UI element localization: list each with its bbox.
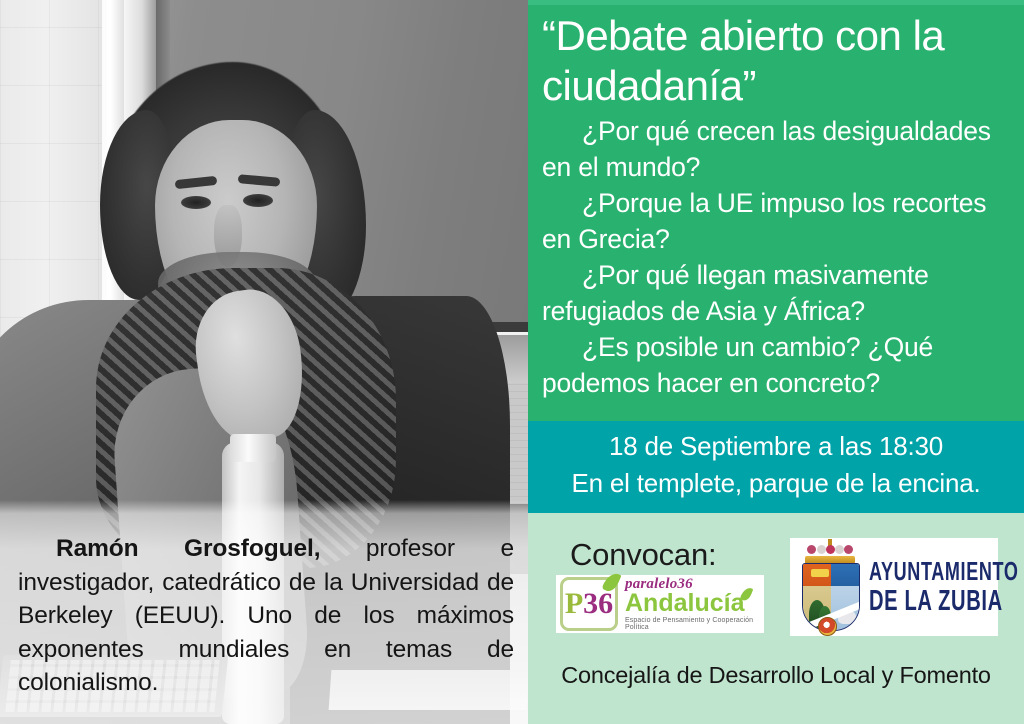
- question-2: ¿Porque la UE impuso los recortes en Gre…: [542, 185, 1012, 257]
- paralelo36-logo[interactable]: P36 paralelo36 Andalucía Espacio de Pens…: [556, 575, 764, 633]
- leaf-icon: [601, 570, 621, 594]
- p36-number-36: 36: [583, 589, 613, 619]
- convocan-label: Convocan:: [570, 537, 716, 573]
- ayuntamiento-logo[interactable]: AYUNTAMIENTO DE LA ZUBIA: [790, 538, 998, 636]
- ayuntamiento-wordmark: AYUNTAMIENTO DE LA ZUBIA: [869, 563, 1010, 611]
- p36-letter-p: P: [565, 589, 583, 619]
- shield-quarter-1: [803, 564, 831, 586]
- paralelo36-main-word: Andalucía: [625, 591, 764, 616]
- event-details-panel: 18 de Septiembre a las 18:30 En el templ…: [528, 421, 1024, 513]
- question-3: ¿Por qué llegan masivamente refugiados d…: [542, 257, 1012, 329]
- paralelo36-wordmark: paralelo36 Andalucía Espacio de Pensamie…: [625, 577, 764, 631]
- crown-jewel: [807, 545, 816, 554]
- organizers-panel: Convocan: P36 paralelo36 Andalucía Espac…: [528, 513, 1024, 724]
- event-venue: En el templete, parque de la encina.: [528, 465, 1024, 502]
- ayuntamiento-line-2: DE LA ZUBIA: [869, 587, 1018, 616]
- speaker-name: Ramón Grosfoguel,: [56, 535, 320, 562]
- person-eye-right: [243, 194, 273, 207]
- speaker-bio: Ramón Grosfoguel, profesor e investigado…: [0, 532, 528, 700]
- coat-of-arms-icon: [796, 542, 864, 632]
- question-1: ¿Por qué crecen las desigualdades en el …: [542, 113, 1012, 185]
- crown-icon: [805, 544, 855, 564]
- info-column: “Debate abierto con la ciudadanía” ¿Por …: [528, 0, 1024, 724]
- shield-badge-icon: [818, 617, 837, 636]
- event-datetime: 18 de Septiembre a las 18:30: [528, 428, 1024, 465]
- crown-jewel: [826, 545, 835, 554]
- crown-jewel: [835, 545, 844, 554]
- andalucia-text: Andalucía: [625, 589, 744, 617]
- crown-jewel: [844, 545, 853, 554]
- water-bottle-cap: [230, 434, 276, 462]
- paralelo36-tagline: Espacio de Pensamiento y Cooperación Pol…: [625, 617, 764, 631]
- question-4: ¿Es posible un cambio? ¿Qué podemos hace…: [542, 329, 1012, 401]
- ayuntamiento-line-1: AYUNTAMIENTO: [869, 559, 1018, 585]
- page-title: “Debate abierto con la ciudadanía”: [542, 11, 1012, 111]
- shield-quarter-2: [831, 564, 859, 586]
- p36-mark-icon: P36: [560, 577, 618, 631]
- questions-panel: “Debate abierto con la ciudadanía” ¿Por …: [528, 5, 1024, 421]
- crown-jewel: [817, 545, 826, 554]
- poster-root: Ramón Grosfoguel, profesor e investigado…: [0, 0, 1024, 724]
- footer-department: Concejalía de Desarrollo Local y Fomento: [528, 662, 1024, 689]
- person-eye-left: [181, 196, 211, 209]
